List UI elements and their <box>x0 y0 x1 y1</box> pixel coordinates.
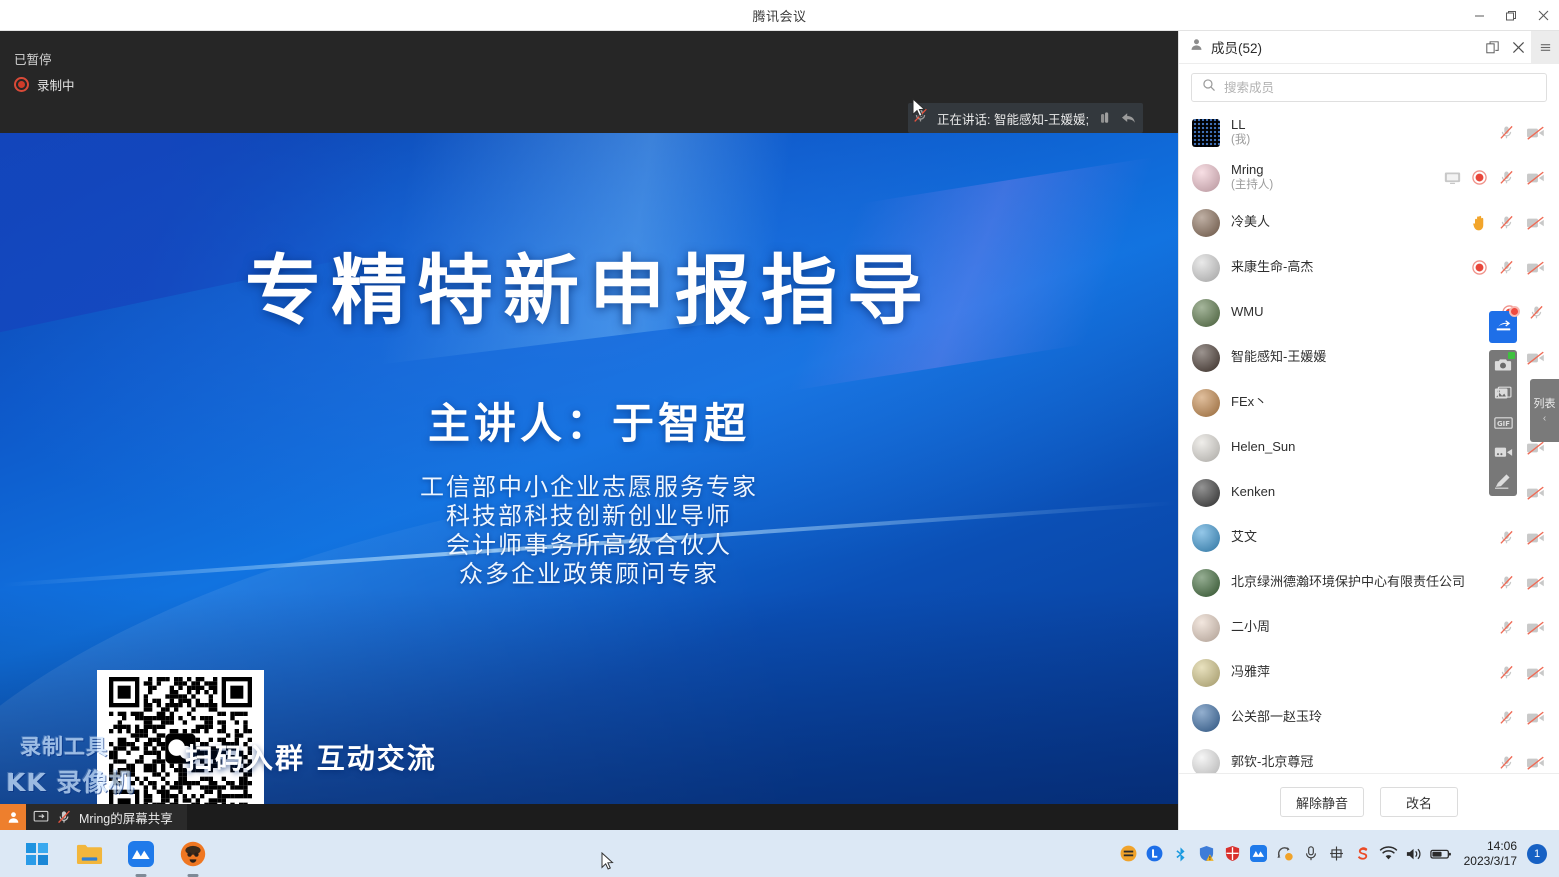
minimize-icon[interactable] <box>1463 0 1495 31</box>
kk-recorder-icon[interactable] <box>178 839 208 869</box>
taskbar-clock[interactable]: 14:06 2023/3/17 <box>1464 839 1517 869</box>
security-warning-icon[interactable] <box>1194 839 1220 869</box>
slide-pointer-cursor <box>912 98 926 123</box>
mouse-cursor <box>601 852 614 876</box>
participant-name-wrap: Kenken <box>1231 485 1515 500</box>
avatar <box>1192 299 1220 327</box>
app-root: 腾讯会议 已暂停 录制中 <box>0 0 1559 877</box>
participant-name-wrap: Helen_Sun <box>1231 440 1515 455</box>
image-icon[interactable] <box>1493 384 1513 403</box>
participant-name: 冯雅萍 <box>1231 665 1487 680</box>
participant-row[interactable]: Mring(主持人) <box>1179 155 1559 200</box>
mic-muted-icon[interactable] <box>1498 619 1515 636</box>
participant-name: Mring <box>1231 163 1433 178</box>
notification-badge[interactable]: 1 <box>1527 844 1547 864</box>
share-person-icon <box>0 804 26 830</box>
participant-name-wrap: 北京绿洲德瀚环境保护中心有限责任公司 <box>1231 575 1487 590</box>
participant-name-wrap: WMU <box>1231 305 1491 320</box>
cam-muted-icon[interactable] <box>1526 215 1545 231</box>
app-orange-icon[interactable] <box>1116 839 1142 869</box>
participant-name-wrap: LL(我) <box>1231 118 1487 146</box>
avatar <box>1192 434 1220 462</box>
participant-role: (主持人) <box>1231 179 1433 192</box>
screen-share-icon[interactable] <box>1444 171 1461 185</box>
mic-muted-icon[interactable] <box>1528 304 1545 321</box>
cam-muted-icon[interactable] <box>1526 530 1545 546</box>
tencent-meeting-icon[interactable] <box>126 839 156 869</box>
participant-status-icons <box>1444 169 1545 186</box>
recording-paused-label: 已暂停 <box>14 49 52 68</box>
participant-row[interactable]: 艾文 <box>1179 515 1559 560</box>
participant-name-wrap: 冯雅萍 <box>1231 665 1487 680</box>
avatar <box>1192 119 1220 147</box>
avatar <box>1192 749 1220 774</box>
window-controls <box>1463 0 1559 31</box>
participant-status-icons <box>1498 124 1545 141</box>
cam-muted-icon[interactable] <box>1526 620 1545 636</box>
gif-icon[interactable]: GIF <box>1493 413 1513 432</box>
participant-status-icons <box>1526 485 1545 501</box>
participant-name-wrap: 冷美人 <box>1231 215 1461 230</box>
participant-status-icons <box>1498 754 1545 771</box>
mic-muted-icon[interactable] <box>1498 169 1515 186</box>
panel-footer: 解除静音 改名 <box>1179 773 1559 830</box>
share-bar-text: Mring的屏幕共享 <box>79 808 173 827</box>
screen-share-icon <box>33 810 49 824</box>
mic-muted-icon[interactable] <box>1498 124 1515 141</box>
avatar <box>1192 254 1220 282</box>
recorder-watermark: 录制工具 KK 录像机 <box>20 731 134 799</box>
lens-icon[interactable] <box>1142 839 1168 869</box>
avatar <box>1192 209 1220 237</box>
avatar <box>1192 524 1220 552</box>
microphone-icon[interactable] <box>1298 839 1324 869</box>
avatar <box>1192 704 1220 732</box>
panel-header-actions <box>1479 31 1559 64</box>
credential-line: 工信部中小企业志愿服务专家 <box>0 473 1178 502</box>
float-capture-toolbar[interactable]: GIF <box>1489 350 1517 496</box>
shared-slide: 专精特新申报指导 主讲人：于智超 工信部中小企业志愿服务专家 科技部科技创新创业… <box>0 133 1178 804</box>
panel-title: 成员(52) <box>1211 37 1262 57</box>
bluetooth-icon[interactable] <box>1168 839 1194 869</box>
participant-name: 郭钦-北京尊冠 <box>1231 755 1487 770</box>
participant-status-icons <box>1498 709 1545 726</box>
defender-icon[interactable] <box>1220 839 1246 869</box>
meeting-area: 已暂停 录制中 正在讲话: 智能感知-王媛媛; <box>0 31 1178 830</box>
recording-indicator: 录制中 <box>14 75 75 94</box>
slide-cta-text: 扫码入群 互动交流 <box>185 737 437 777</box>
participant-name-wrap: 二小周 <box>1231 620 1487 635</box>
reply-arrow-icon <box>1119 110 1137 126</box>
participant-row[interactable]: 冯雅萍 <box>1179 650 1559 695</box>
cam-muted-icon[interactable] <box>1526 710 1545 726</box>
pen-icon[interactable] <box>1493 471 1513 490</box>
speaking-indicator-bar: 正在讲话: 智能感知-王媛媛; <box>908 103 1143 133</box>
search-area <box>1179 64 1559 110</box>
mic-muted-icon[interactable] <box>1498 754 1515 771</box>
window-titlebar: 腾讯会议 <box>0 0 1559 31</box>
mic-muted-icon[interactable] <box>1498 259 1515 276</box>
screen-share-bar: Mring的屏幕共享 <box>0 804 1178 830</box>
participant-row[interactable]: 郭钦-北京尊冠 <box>1179 740 1559 773</box>
recording-label: 录制中 <box>37 75 75 94</box>
participant-name: 艾文 <box>1231 530 1487 545</box>
cam-muted-icon[interactable] <box>1526 575 1545 591</box>
unmute-button[interactable]: 解除静音 <box>1280 787 1364 817</box>
mic-muted-icon[interactable] <box>1498 664 1515 681</box>
float-share-button[interactable] <box>1489 311 1517 343</box>
cam-muted-icon[interactable] <box>1526 755 1545 771</box>
sogou-icon[interactable] <box>1350 839 1376 869</box>
participant-name: 公关部一赵玉玲 <box>1231 710 1487 725</box>
watermark-line-1: 录制工具 <box>20 731 134 761</box>
sync-icon[interactable] <box>1272 839 1298 869</box>
app-running-underline <box>188 874 199 877</box>
popout-icon[interactable] <box>1479 31 1505 64</box>
participant-status-icons <box>1498 619 1545 636</box>
status-green-dot <box>1508 352 1515 359</box>
participant-name: WMU <box>1231 305 1491 320</box>
video-record-icon[interactable] <box>1493 442 1513 461</box>
participant-row[interactable]: 二小周 <box>1179 605 1559 650</box>
participant-name-wrap: 郭钦-北京尊冠 <box>1231 755 1487 770</box>
participant-name: Helen_Sun <box>1231 440 1515 455</box>
file-explorer-icon[interactable] <box>74 839 104 869</box>
search-box[interactable] <box>1191 73 1547 102</box>
mic-muted-icon[interactable] <box>1498 574 1515 591</box>
search-input[interactable] <box>1224 81 1536 95</box>
clock-date: 2023/3/17 <box>1464 854 1517 869</box>
app-running-underline <box>136 874 147 877</box>
mic-muted-icon[interactable] <box>1498 709 1515 726</box>
participant-name: 北京绿洲德瀚环境保护中心有限责任公司 <box>1231 575 1487 590</box>
hands-icon <box>1097 110 1113 126</box>
rename-button[interactable]: 改名 <box>1380 787 1458 817</box>
ime-icon[interactable] <box>1324 839 1350 869</box>
participant-name-wrap: 艾文 <box>1231 530 1487 545</box>
clock-time: 14:06 <box>1464 839 1517 854</box>
svg-text:GIF: GIF <box>1497 420 1510 428</box>
avatar <box>1192 614 1220 642</box>
system-tray: 14:06 2023/3/17 1 <box>1116 839 1547 869</box>
recording-dot-icon <box>14 77 29 92</box>
participant-name: Kenken <box>1231 485 1515 500</box>
avatar <box>1192 569 1220 597</box>
panel-header: 成员(52) <box>1179 31 1559 64</box>
participant-row[interactable]: 冷美人 <box>1179 200 1559 245</box>
share-status-pill: Mring的屏幕共享 <box>26 804 187 830</box>
volume-icon[interactable] <box>1402 839 1428 869</box>
participant-name: 二小周 <box>1231 620 1487 635</box>
participant-name: 来康生命-高杰 <box>1231 260 1461 275</box>
speaking-label: 正在讲话: 智能感知-王媛媛; <box>937 109 1089 128</box>
avatar <box>1192 164 1220 192</box>
participant-name-wrap: 来康生命-高杰 <box>1231 260 1461 275</box>
participant-row[interactable]: LL(我) <box>1179 110 1559 155</box>
close-icon[interactable] <box>1527 0 1559 31</box>
credential-line: 科技部科技创新创业导师 <box>0 502 1178 531</box>
raise-hand-icon[interactable] <box>1472 215 1487 231</box>
search-icon <box>1202 78 1216 97</box>
recording-icon[interactable] <box>1472 170 1487 185</box>
slide-title: 专精特新申报指导 <box>0 229 1178 339</box>
cam-muted-icon[interactable] <box>1526 260 1545 276</box>
windows-start-icon[interactable] <box>22 839 52 869</box>
cam-muted-icon[interactable] <box>1526 170 1545 186</box>
close-panel-icon[interactable] <box>1505 31 1531 64</box>
avatar <box>1192 389 1220 417</box>
recording-icon[interactable] <box>1472 260 1487 275</box>
mic-muted-icon[interactable] <box>1498 214 1515 231</box>
avatar <box>1192 344 1220 372</box>
recording-badge-dot <box>1509 306 1520 317</box>
watermark-line-2: KK 录像机 <box>6 763 134 799</box>
participant-row[interactable]: 公关部一赵玉玲 <box>1179 695 1559 740</box>
mic-muted-icon <box>56 809 72 825</box>
participant-row[interactable]: 来康生命-高杰 <box>1179 245 1559 290</box>
float-list-tab[interactable]: 列表 ‹ <box>1530 379 1559 442</box>
participant-status-icons <box>1498 529 1545 546</box>
slide-credentials: 工信部中小企业志愿服务专家 科技部科技创新创业导师 会计师事务所高级合伙人 众多… <box>0 473 1178 589</box>
participant-status-icons <box>1498 664 1545 681</box>
participant-name: 智能感知-王媛媛 <box>1231 350 1515 365</box>
members-icon <box>1189 37 1204 57</box>
avatar <box>1192 659 1220 687</box>
panel-menu-icon[interactable] <box>1531 31 1559 64</box>
credential-line: 会计师事务所高级合伙人 <box>0 531 1178 560</box>
wifi-icon[interactable] <box>1376 839 1402 869</box>
share-icon <box>1495 320 1512 335</box>
participant-role: (我) <box>1231 134 1487 147</box>
mic-muted-icon[interactable] <box>1498 529 1515 546</box>
camera-icon[interactable] <box>1493 355 1513 374</box>
battery-icon[interactable] <box>1428 839 1454 869</box>
avatar <box>1192 479 1220 507</box>
participant-row[interactable]: 北京绿洲德瀚环境保护中心有限责任公司 <box>1179 560 1559 605</box>
cam-muted-icon[interactable] <box>1526 125 1545 141</box>
participant-status-icons <box>1472 259 1545 276</box>
participant-name: LL <box>1231 118 1487 133</box>
windows-taskbar: 14:06 2023/3/17 1 <box>0 830 1559 877</box>
chevron-left-icon: ‹ <box>1543 413 1546 424</box>
float-list-tab-label: 列表 <box>1534 398 1556 410</box>
cam-muted-icon[interactable] <box>1526 485 1545 501</box>
credential-line: 众多企业政策顾问专家 <box>0 560 1178 589</box>
participant-status-icons <box>1526 350 1545 366</box>
taskbar-apps <box>0 839 208 869</box>
participant-status-icons <box>1472 214 1545 231</box>
cam-muted-icon[interactable] <box>1526 350 1545 366</box>
participant-name: 冷美人 <box>1231 215 1461 230</box>
tencent-meeting-tray-icon[interactable] <box>1246 839 1272 869</box>
participant-status-icons <box>1498 574 1545 591</box>
maximize-icon[interactable] <box>1495 0 1527 31</box>
participant-name-wrap: 智能感知-王媛媛 <box>1231 350 1515 365</box>
speaking-extra-icons <box>1097 110 1137 126</box>
window-title: 腾讯会议 <box>752 6 806 25</box>
cam-muted-icon[interactable] <box>1526 665 1545 681</box>
participant-name-wrap: Mring(主持人) <box>1231 163 1433 191</box>
participant-name-wrap: 公关部一赵玉玲 <box>1231 710 1487 725</box>
slide-speaker: 主讲人：于智超 <box>0 390 1178 451</box>
